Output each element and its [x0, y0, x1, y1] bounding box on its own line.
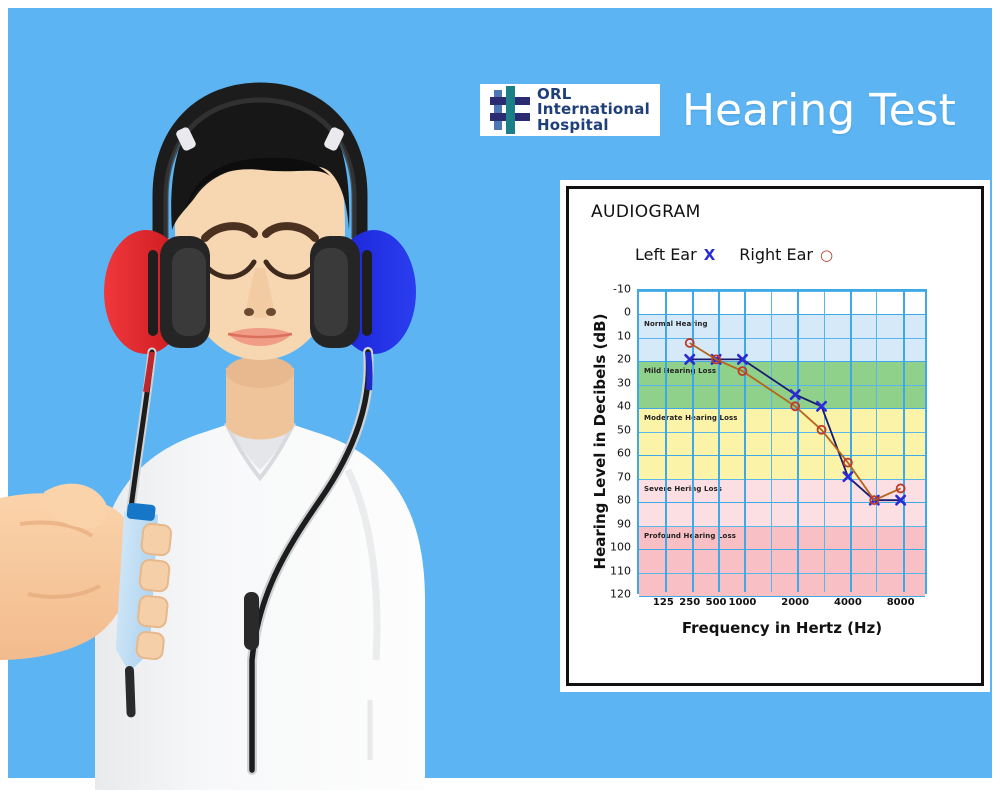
y-tick-label: 30 — [617, 376, 631, 389]
y-tick-label: -10 — [613, 283, 631, 296]
logo-line-3: Hospital — [537, 118, 650, 133]
audiogram-card: AUDIOGRAM Left Ear X Right Ear ○ Hearing… — [566, 186, 984, 686]
y-tick-label: 40 — [617, 400, 631, 413]
y-tick-label: 80 — [617, 494, 631, 507]
y-tick-label: 90 — [617, 517, 631, 530]
data-point-x-marker — [791, 390, 799, 398]
legend-label-left-ear: Left Ear — [635, 245, 697, 264]
x-axis-title: Frequency in Hertz (Hz) — [637, 619, 927, 637]
x-marker-icon: X — [704, 246, 716, 264]
y-tick-label: 110 — [610, 564, 631, 577]
legend-item-right-ear: Right Ear ○ — [739, 245, 833, 264]
y-tick-label: 10 — [617, 329, 631, 342]
illustration-man-with-headphones — [0, 0, 520, 790]
chart-series-layer — [637, 289, 927, 594]
legend-label-right-ear: Right Ear — [739, 245, 813, 264]
right-white-border — [992, 0, 1000, 800]
y-axis-ticks: -100102030405060708090100110120 — [593, 289, 631, 594]
x-tick-label: 2000 — [781, 597, 809, 608]
y-tick-label: 0 — [624, 306, 631, 319]
series-line — [690, 359, 901, 500]
data-point-o-marker — [897, 484, 905, 492]
data-point-x-marker — [817, 402, 825, 410]
medical-cross-icon — [486, 86, 530, 134]
y-axis-title-host: Hearing Level in Decibels (dB) — [571, 289, 593, 594]
plot-area: Normal HearingMild Hearing LossModerate … — [637, 289, 927, 594]
circle-marker-icon: ○ — [820, 246, 833, 264]
y-tick-label: 70 — [617, 470, 631, 483]
y-tick-label: 120 — [610, 588, 631, 601]
chart-legend: Left Ear X Right Ear ○ — [635, 245, 833, 264]
series-line — [690, 343, 901, 500]
x-tick-label: 4000 — [834, 597, 862, 608]
x-tick-label: 125 — [653, 597, 674, 608]
x-tick-label: 1000 — [729, 597, 757, 608]
x-tick-label: 8000 — [887, 597, 915, 608]
y-tick-label: 100 — [610, 541, 631, 554]
screenshot-root: ORL International Hospital Hearing Test … — [0, 0, 1000, 800]
page-title: Hearing Test — [682, 85, 956, 136]
hospital-logo-text: ORL International Hospital — [537, 87, 650, 133]
data-point-x-marker — [844, 472, 852, 480]
legend-item-left-ear: Left Ear X — [635, 245, 715, 264]
x-tick-label: 500 — [706, 597, 727, 608]
x-tick-label: 250 — [679, 597, 700, 608]
page-header: ORL International Hospital Hearing Test — [480, 72, 985, 148]
y-tick-label: 20 — [617, 353, 631, 366]
y-tick-label: 50 — [617, 423, 631, 436]
y-tick-label: 60 — [617, 447, 631, 460]
audiogram-title: AUDIOGRAM — [591, 202, 701, 222]
hospital-logo: ORL International Hospital — [480, 84, 660, 136]
